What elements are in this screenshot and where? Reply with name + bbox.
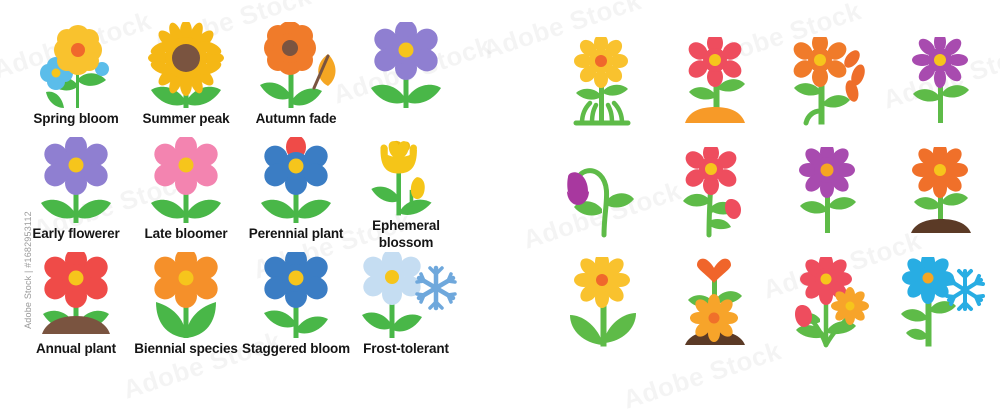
heart-bloom xyxy=(697,259,731,283)
tulip-bud xyxy=(411,177,425,199)
stock-id-watermark: Adobe Stock | #1682953112 xyxy=(23,195,33,345)
icon-cell-blue-flower-with-snowflake[interactable] xyxy=(884,250,997,360)
icon-cell-daisy-with-grass[interactable] xyxy=(545,30,658,140)
falling-petals xyxy=(841,47,867,103)
soil-mound xyxy=(911,219,971,233)
icon-cell-spring-bloom[interactable]: Spring bloom xyxy=(22,22,130,137)
icon-cell-staggered-bloom[interactable]: Staggered bloom xyxy=(242,252,350,367)
icon-caption: Spring bloom xyxy=(20,111,132,128)
orange-flower-wide-leaves-icon xyxy=(132,252,240,340)
icon-caption: Frost-tolerant xyxy=(350,341,462,358)
icon-cell-yellow-daisy-two-leaves[interactable] xyxy=(545,250,658,360)
icon-caption: Biennial species xyxy=(130,341,242,358)
red-flower-in-soil-icon xyxy=(667,37,763,133)
icon-caption: Staggered bloom xyxy=(240,341,352,358)
icon-caption: Ephemeral blossom xyxy=(350,218,462,252)
plain-flower-icon-grid xyxy=(545,30,997,360)
blue-flower-red-petal-icon xyxy=(242,137,350,225)
icon-cell-orange-sprout-in-soil[interactable] xyxy=(884,140,997,250)
violet-daisy-icon xyxy=(780,147,876,243)
icon-caption: Perennial plant xyxy=(240,226,352,243)
icon-cell-late-bloomer[interactable]: Late bloomer xyxy=(132,137,240,252)
daisy-with-grass-icon xyxy=(554,37,650,133)
labeled-flower-icon-grid: Spring bloom xyxy=(22,22,472,367)
soil-mound xyxy=(685,107,745,123)
icon-cell-perennial-plant[interactable]: Perennial plant xyxy=(242,137,350,252)
flower-in-soil-mound-icon xyxy=(22,252,130,340)
orange-sprout-in-soil-icon xyxy=(893,147,989,243)
icon-cell-heart-flower-sprout[interactable] xyxy=(658,250,771,360)
six-petal-purple-flower-icon xyxy=(22,137,130,225)
icon-cell-purple-aster[interactable] xyxy=(884,30,997,140)
icon-cell-annual-plant[interactable]: Annual plant xyxy=(22,252,130,367)
orange-flower-petals-falling-icon xyxy=(780,37,876,133)
daisy-pair-yellow-blue-icon xyxy=(22,22,130,110)
tulip-with-bud-icon xyxy=(352,137,460,217)
icon-cell-ephemeral-blossom[interactable]: Ephemeral blossom xyxy=(352,137,460,252)
icon-cell-orange-flower-petals-falling[interactable] xyxy=(771,30,884,140)
icon-caption: Early flowerer xyxy=(20,226,132,243)
icon-cell-red-flower-in-soil[interactable] xyxy=(658,30,771,140)
icon-cell-drooping-bellflower[interactable] xyxy=(545,140,658,250)
flower-bouquet-icon xyxy=(780,257,876,353)
heart-flower-sprout-icon xyxy=(667,257,763,353)
icon-cell-biennial-species[interactable]: Biennial species xyxy=(132,252,240,367)
icon-cell-frost-tolerant[interactable]: Frost-tolerant xyxy=(352,252,460,367)
snowflake-icon xyxy=(947,271,983,309)
six-petal-purple-flower-icon xyxy=(352,22,460,110)
icon-sheet-canvas: Adobe Stock Adobe Stock Adobe Stock Adob… xyxy=(0,0,1000,411)
bouquet-bud xyxy=(795,305,812,327)
sunflower-icon xyxy=(132,22,240,110)
icon-cell-violet-daisy[interactable] xyxy=(771,140,884,250)
icon-cell-purple-six-petal[interactable]: . xyxy=(352,22,460,137)
blue-flower-stem-icon xyxy=(242,252,350,340)
blue-flower-with-snowflake-icon xyxy=(893,257,989,353)
purple-aster-icon xyxy=(893,37,989,133)
icon-caption: Autumn fade xyxy=(240,111,352,128)
pale-flower-with-snowflake-icon xyxy=(352,252,460,340)
icon-cell-early-flowerer[interactable]: Early flowerer xyxy=(22,137,130,252)
six-petal-pink-flower-icon xyxy=(132,137,240,225)
flower-center xyxy=(52,69,61,78)
drooping-bellflower-icon xyxy=(554,147,650,243)
icon-cell-flower-bouquet[interactable] xyxy=(771,250,884,360)
flower-bud xyxy=(725,199,741,219)
yellow-daisy-two-leaves-icon xyxy=(554,257,650,353)
icon-caption: Annual plant xyxy=(20,341,132,358)
icon-cell-autumn-fade[interactable]: Autumn fade xyxy=(242,22,350,137)
flower-with-falling-leaf-icon xyxy=(242,22,350,110)
icon-cell-summer-peak[interactable]: Summer peak xyxy=(132,22,240,137)
icon-caption: Late bloomer xyxy=(130,226,242,243)
icon-cell-red-flower-with-bud[interactable] xyxy=(658,140,771,250)
icon-caption: Summer peak xyxy=(130,111,242,128)
red-flower-with-bud-icon xyxy=(667,147,763,243)
